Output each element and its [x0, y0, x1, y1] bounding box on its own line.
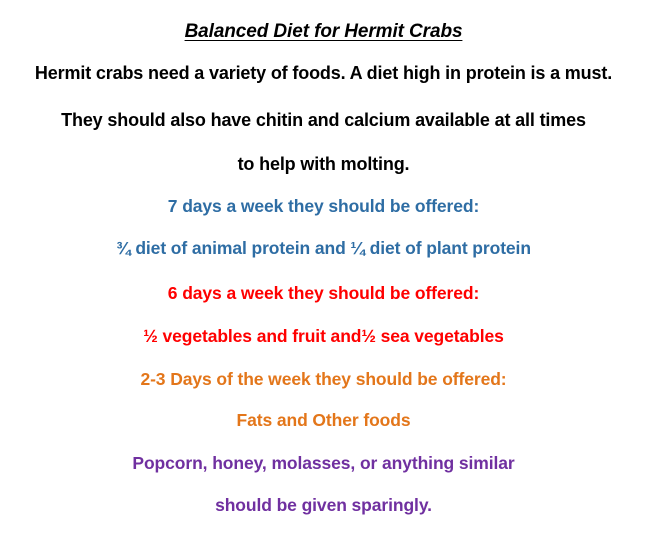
section-heading-6-days: 6 days a week they should be offered:	[0, 285, 647, 303]
section-detail-2-3-days: Fats and Other foods	[0, 412, 647, 430]
document-body: Balanced Diet for Hermit Crabs Hermit cr…	[0, 0, 647, 534]
section-heading-sparingly: Popcorn, honey, molasses, or anything si…	[0, 455, 647, 473]
section-detail-7-days: ¾ diet of animal protein and ¼ diet of p…	[0, 240, 647, 258]
section-detail-sparingly: should be given sparingly.	[0, 497, 647, 515]
section-heading-7-days: 7 days a week they should be offered:	[0, 198, 647, 216]
intro-line-1: Hermit crabs need a variety of foods. A …	[0, 64, 647, 82]
intro-line-2: They should also have chitin and calcium…	[0, 111, 647, 129]
section-heading-2-3-days: 2-3 Days of the week they should be offe…	[0, 371, 647, 389]
section-detail-6-days: ½ vegetables and fruit and½ sea vegetabl…	[0, 328, 647, 346]
intro-line-3: to help with molting.	[0, 155, 647, 173]
page-title: Balanced Diet for Hermit Crabs	[0, 22, 647, 41]
